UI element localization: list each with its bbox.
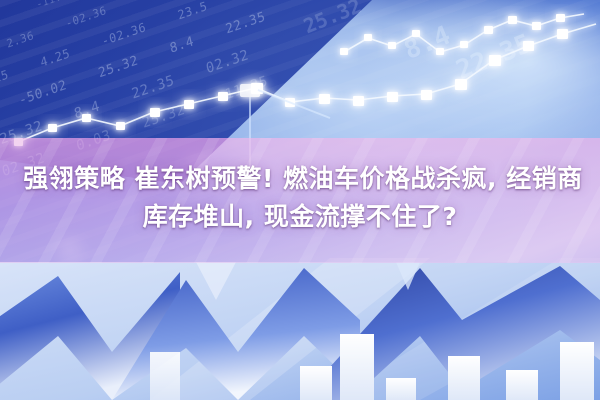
headline-line-1: 强翎策略 崔东树预警! 燃油车价格战杀疯, 经销商	[0, 160, 600, 198]
poster-canvas: -45.02 -11.25 -02.36 21.06 45.02 -11.25 …	[0, 0, 600, 400]
bar	[340, 334, 374, 400]
bar	[506, 370, 538, 400]
bar	[150, 352, 180, 400]
headline-line-2: 库存堆山, 现金流撑不住了?	[0, 198, 600, 236]
bar	[448, 356, 480, 400]
bar	[386, 378, 416, 400]
bar	[300, 366, 332, 400]
bar	[560, 342, 594, 400]
headline-text: 强翎策略 崔东树预警! 燃油车价格战杀疯, 经销商 库存堆山, 现金流撑不住了?	[0, 160, 600, 236]
